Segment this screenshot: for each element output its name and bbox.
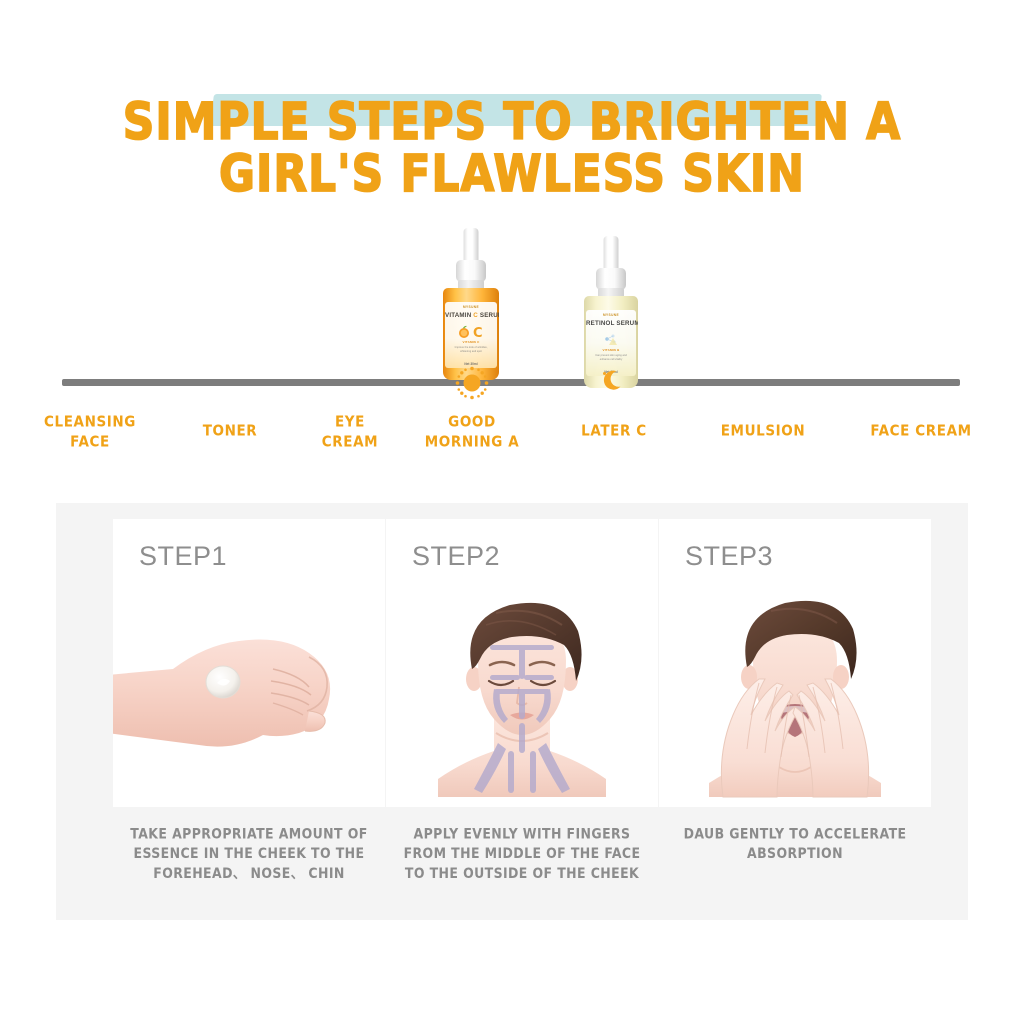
timeline-label-line2: MORNING A xyxy=(404,432,540,452)
face-with-application-arrows-icon xyxy=(386,583,658,803)
caption-line: DAUB GENTLY TO ACCELERATE xyxy=(659,824,931,844)
caption-line: APPLY EVENLY WITH FINGERS xyxy=(386,824,658,844)
dropper-collar-icon xyxy=(456,260,486,282)
step-card-3-caption: DAUB GENTLY TO ACCELERATE ABSORPTION xyxy=(659,824,931,864)
svg-text:C: C xyxy=(473,326,483,340)
timeline-label-toner[interactable]: TONER xyxy=(162,421,298,441)
timeline-label-line1: CLEANSING xyxy=(22,412,158,432)
bottle-name-pre: RETINOL SERUM xyxy=(586,320,638,327)
page-title-line-2: GIRL'S FLAWLESS SKIN xyxy=(0,144,1024,205)
hands-patting-face-icon xyxy=(659,583,931,803)
timeline-label-line1: TONER xyxy=(162,421,298,441)
step-card-1-title: STEP1 xyxy=(139,541,227,572)
step-card-2-caption: APPLY EVENLY WITH FINGERS FROM THE MIDDL… xyxy=(386,824,658,883)
timeline-label-line1: GOOD xyxy=(404,412,540,432)
bottle-brand: MYSUNE xyxy=(445,305,497,309)
caption-line: TO THE OUTSIDE OF THE CHEEK xyxy=(386,864,658,884)
bottle-label: MYSUNE VITAMIN C SERUM C VITAMIN C Impro… xyxy=(445,302,497,368)
page-title: SIMPLE STEPS TO BRIGHTEN A GIRL'S FLAWLE… xyxy=(0,92,1024,196)
caption-line: FOREHEAD、 NOSE、 CHIN xyxy=(113,864,385,884)
sun-icon xyxy=(452,363,492,403)
caption-line: TAKE APPROPRIATE AMOUNT OF xyxy=(113,824,385,844)
timeline-label-line1: LATER C xyxy=(546,421,682,441)
timeline-label-good-morning-a[interactable]: GOOD MORNING A xyxy=(404,412,540,452)
molecule-icon xyxy=(596,330,626,348)
step-card-2-title: STEP2 xyxy=(412,541,500,572)
timeline-label-face-cream[interactable]: FACE CREAM xyxy=(848,421,994,441)
bottle-description: Improve the look of wrinkles, whitening … xyxy=(449,346,493,353)
product-bottle-vitamin-c[interactable]: MYSUNE VITAMIN C SERUM C VITAMIN C Impro… xyxy=(443,228,499,380)
caption-line: FROM THE MIDDLE OF THE FACE xyxy=(386,844,658,864)
bottle-sub-label: VITAMIN B xyxy=(586,348,636,352)
bottle-sub-label: VITAMIN C xyxy=(445,340,497,344)
timeline-label-line2: CREAM xyxy=(282,432,418,452)
dropper-collar-icon xyxy=(596,268,626,290)
bottle-brand: MYSUNE xyxy=(586,313,636,317)
step-card-3-title: STEP3 xyxy=(685,541,773,572)
timeline-label-eye-cream[interactable]: EYE CREAM xyxy=(282,412,418,452)
bottle-product-name: RETINOL SERUM xyxy=(586,320,636,327)
step-card-1[interactable]: STEP1 xyxy=(113,519,385,807)
timeline-label-later-c[interactable]: LATER C xyxy=(546,421,682,441)
product-bottle-retinol[interactable]: MYSUNE RETINOL SERUM VITAMIN B Can preve… xyxy=(584,236,638,381)
bottle-product-name: VITAMIN C SERUM xyxy=(445,312,497,319)
caption-line: ABSORPTION xyxy=(659,844,931,864)
bottle-description: Can prevent skin aging and enhance cell … xyxy=(590,354,632,361)
steps-panel: STEP1 xyxy=(56,503,968,920)
step-card-1-caption: TAKE APPROPRIATE AMOUNT OF ESSENCE IN TH… xyxy=(113,824,385,883)
timeline-label-cleansing-face[interactable]: CLEANSING FACE xyxy=(22,412,158,452)
bottle-name-pre: VITAMIN xyxy=(445,312,473,319)
timeline-label-line1: FACE CREAM xyxy=(848,421,994,441)
timeline-label-line1: EMULSION xyxy=(695,421,831,441)
caption-line: ESSENCE IN THE CHEEK TO THE xyxy=(113,844,385,864)
timeline-label-line1: EYE xyxy=(282,412,418,432)
step-card-3[interactable]: STEP3 xyxy=(659,519,931,807)
bottle-name-post: SERUM xyxy=(478,312,499,319)
step-card-2[interactable]: STEP2 xyxy=(386,519,658,807)
routine-timeline-labels: CLEANSING FACE TONER EYE CREAM GOOD MORN… xyxy=(0,408,1024,464)
hand-with-cream-dollop-icon xyxy=(113,583,385,803)
routine-timeline-bar xyxy=(62,379,960,386)
timeline-label-line2: FACE xyxy=(22,432,158,452)
moon-icon xyxy=(598,367,628,397)
timeline-label-emulsion[interactable]: EMULSION xyxy=(695,421,831,441)
orange-fruit-icon: C xyxy=(456,322,486,340)
